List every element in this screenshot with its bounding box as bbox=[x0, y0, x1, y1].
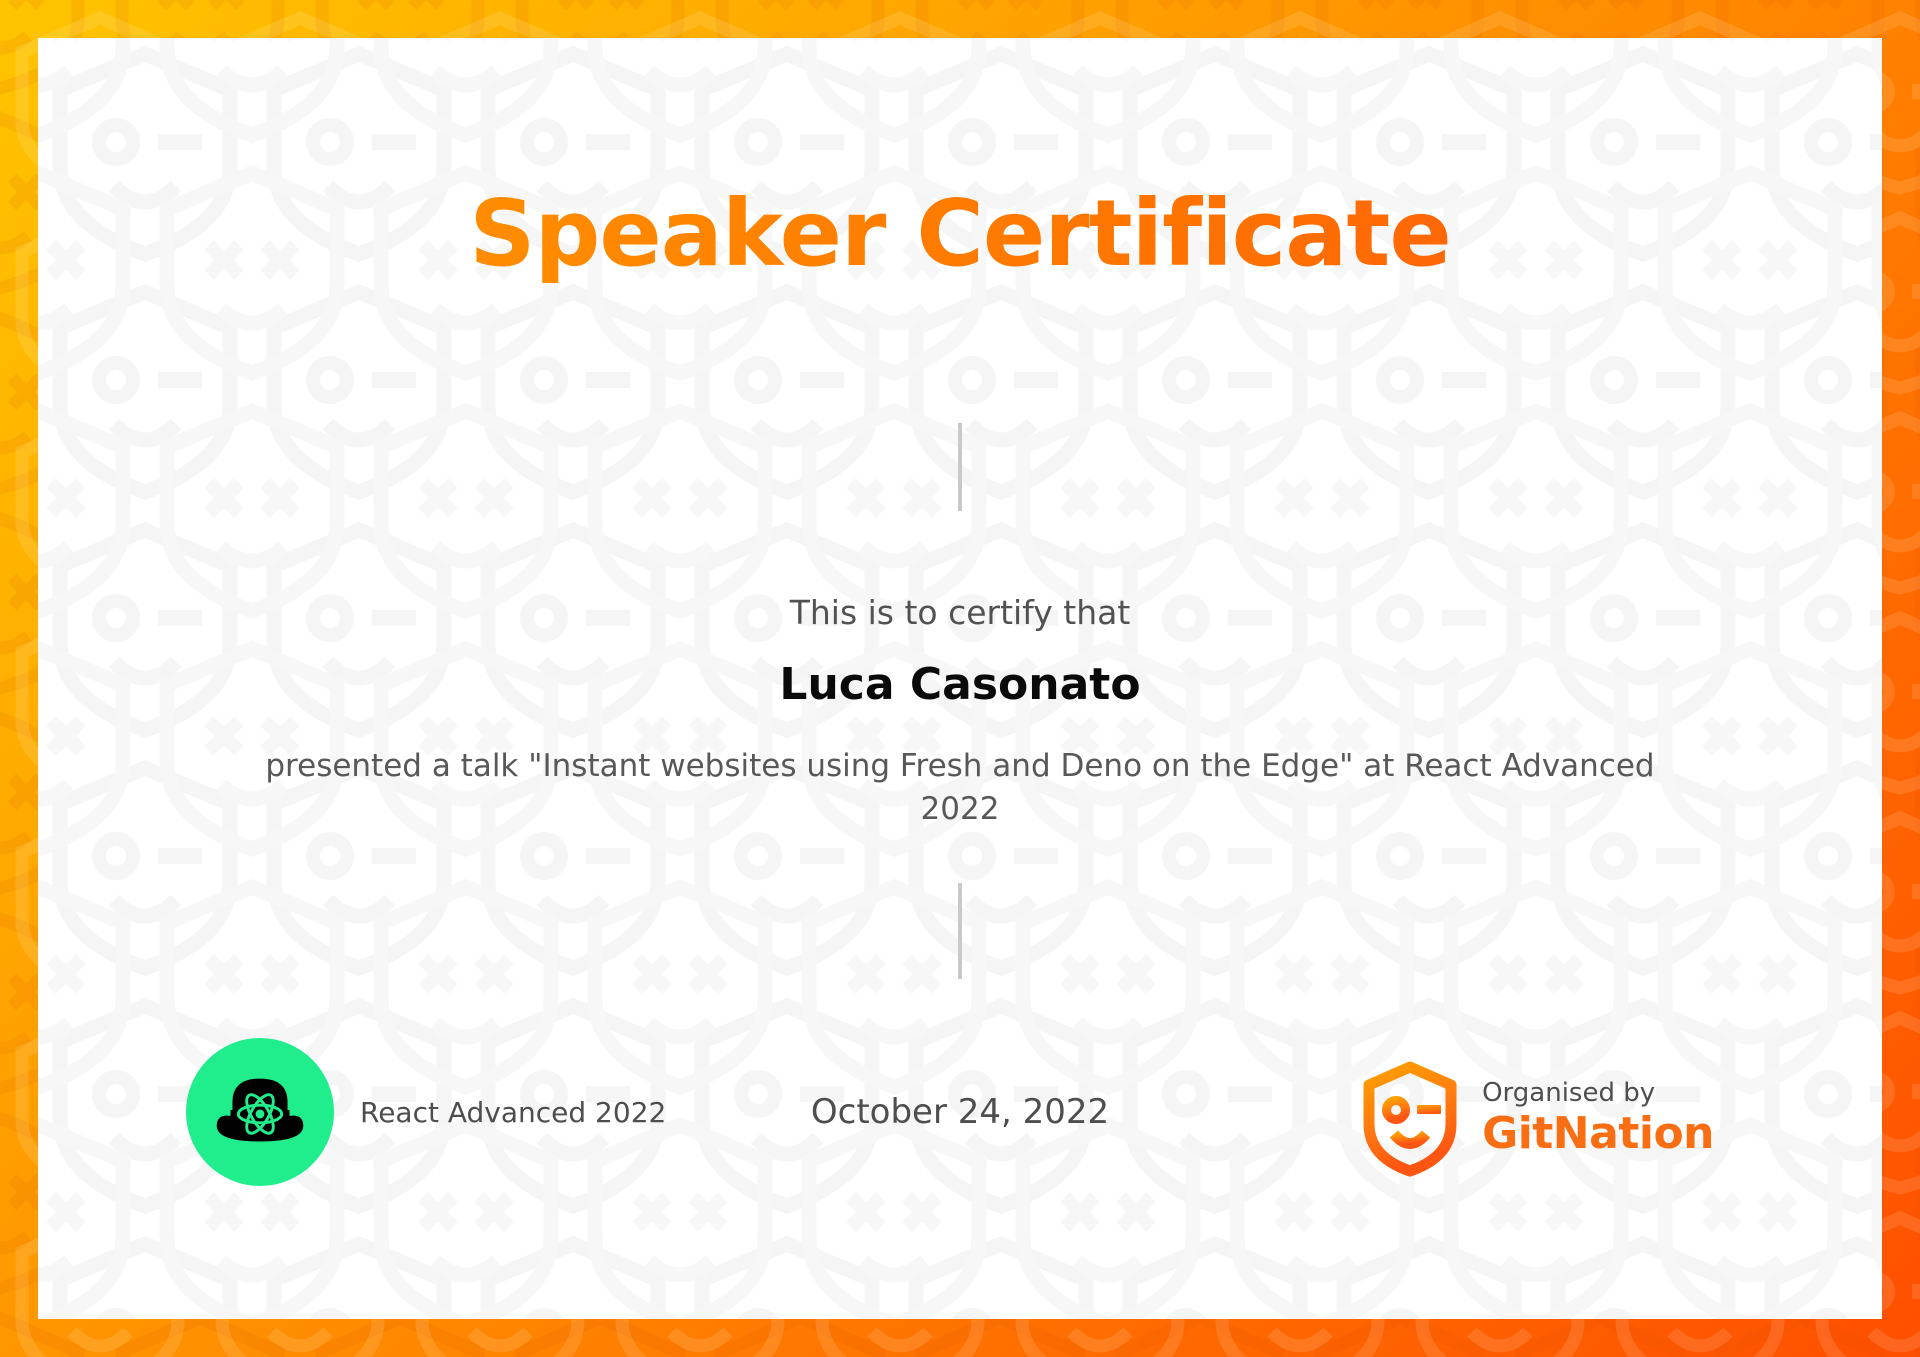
certificate: Speaker Certificate This is to certify t… bbox=[0, 0, 1920, 1357]
organised-by-label: Organised by bbox=[1482, 1078, 1714, 1109]
talk-description: presented a talk "Instant websites using… bbox=[245, 745, 1675, 831]
certificate-body: This is to certify that Luca Casonato pr… bbox=[38, 593, 1882, 831]
certify-line: This is to certify that bbox=[38, 593, 1882, 633]
gitnation-shield-face-logo-icon bbox=[1360, 1060, 1460, 1178]
certificate-footer: React Advanced 2022 October 24, 2022 bbox=[38, 1038, 1882, 1218]
vertical-divider-bottom bbox=[958, 883, 962, 979]
page-title: Speaker Certificate bbox=[38, 186, 1882, 283]
organiser-name: GitNation bbox=[1482, 1108, 1714, 1160]
vertical-divider-top bbox=[958, 423, 962, 511]
organiser-text: Organised by GitNation bbox=[1482, 1078, 1714, 1161]
recipient-name: Luca Casonato bbox=[38, 659, 1882, 712]
organiser-block: Organised by GitNation bbox=[1360, 1060, 1714, 1178]
certificate-card: Speaker Certificate This is to certify t… bbox=[38, 38, 1882, 1319]
